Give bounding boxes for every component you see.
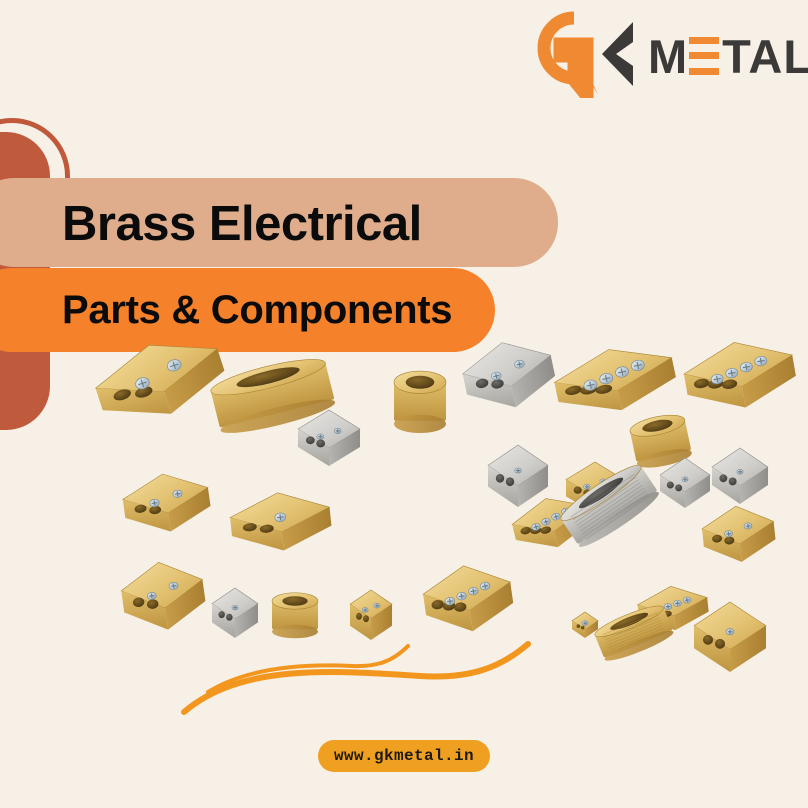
screw-head: [673, 600, 681, 607]
screw-head: [334, 428, 341, 433]
product-brass-neutral-bar-stacked: [680, 340, 800, 417]
product-brass-neutral-bar-8way: [550, 340, 680, 423]
screw-head: [515, 468, 522, 473]
product-brass-hex-terminal-block-large: [88, 340, 232, 433]
product-nickel-u-bracket: [488, 445, 548, 507]
screw-head: [317, 434, 324, 439]
decorative-swoosh: [180, 640, 600, 720]
product-brass-threaded-insert: [394, 371, 446, 433]
product-nickel-screw-block-small: [212, 588, 258, 638]
screw-head: [374, 603, 380, 608]
screw-head: [737, 469, 743, 474]
brand-wordmark: M TAL: [648, 33, 808, 80]
product-brass-cluster-terminal: [118, 557, 209, 636]
screw-head: [582, 621, 588, 626]
product-brass-multi-screw-neutral-bar: [420, 560, 516, 638]
product-nickel-multi-screw-terminal: [458, 340, 560, 417]
headline-line-1: Brass Electrical: [62, 196, 422, 252]
brand-logo: M TAL: [530, 8, 808, 100]
screw-head: [724, 530, 733, 537]
screw-head: [362, 608, 368, 613]
product-brass-double-screw-block: [120, 468, 213, 537]
screw-head: [726, 629, 734, 635]
product-brass-tapered-pin: [592, 601, 675, 665]
poster-canvas: M TAL Brass Electrical Parts & Component…: [0, 0, 808, 808]
product-brass-rectangular-clamp-plate: [228, 488, 334, 556]
screw-head: [683, 597, 691, 604]
product-nickel-cube-terminal: [660, 458, 710, 508]
gk-logo-icon: [530, 10, 648, 98]
screw-head: [744, 523, 753, 530]
wordmark-e-bars: [689, 35, 719, 77]
screw-head: [232, 605, 238, 610]
product-brass-small-screw-clamp: [350, 590, 392, 640]
wordmark-tal: TAL: [722, 33, 808, 80]
website-url-badge[interactable]: www.gkmetal.in: [318, 740, 490, 772]
screw-head: [682, 477, 688, 482]
product-nickel-terminal-block-2way: [298, 410, 360, 466]
product-brass-micro-fitting: [572, 612, 598, 638]
screw-head: [664, 603, 672, 610]
product-brass-hollow-ferrule: [272, 593, 318, 638]
wordmark-m: M: [648, 33, 688, 80]
product-brass-dual-screw-terminal: [700, 502, 777, 565]
screw-head: [584, 484, 590, 489]
product-nickel-cube-terminal-ring: [712, 448, 768, 504]
website-url-text: www.gkmetal.in: [334, 747, 474, 765]
gk-logo-mark: [530, 10, 648, 98]
headline-line-2: Parts & Components: [62, 288, 452, 333]
